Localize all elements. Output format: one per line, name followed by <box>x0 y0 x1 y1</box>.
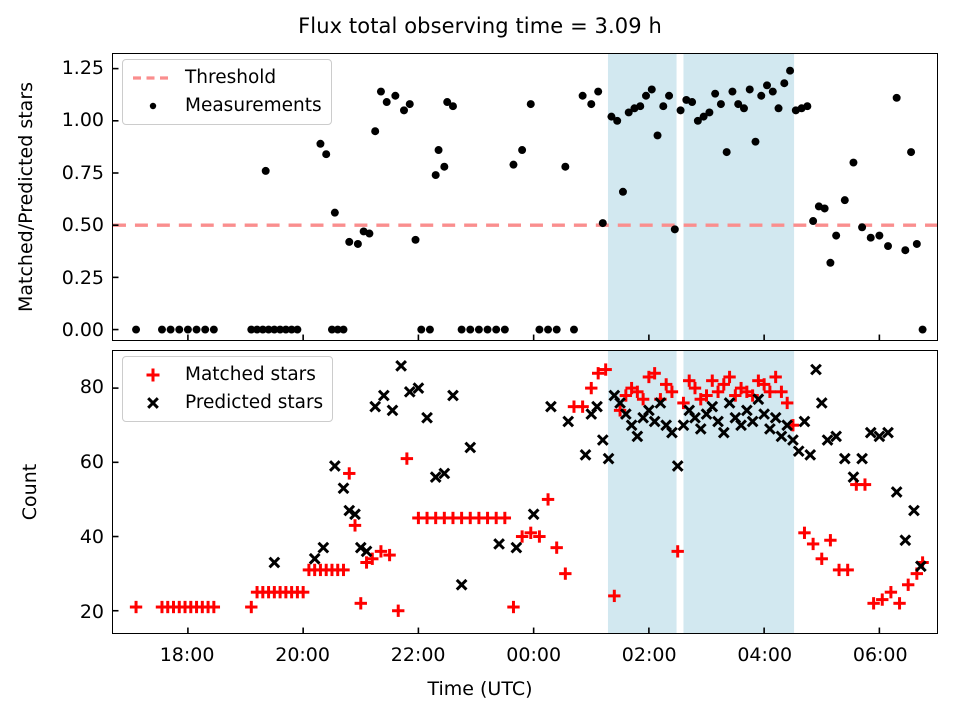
legend-label-predicted-stars: Predicted stars <box>185 392 323 413</box>
figure-canvas: Flux total observing time = 3.09 h 0.000… <box>0 0 960 720</box>
x-axis-label: Time (UTC) <box>0 678 960 700</box>
dot-marker-icon <box>132 96 174 116</box>
legend-item-predicted-stars: Predicted stars <box>132 390 323 415</box>
y-tick-label: 40 <box>80 526 104 548</box>
y-tick-label: 80 <box>80 376 104 398</box>
y-tick-label: 0.50 <box>62 214 104 236</box>
x-tick-label: 02:00 <box>622 644 677 666</box>
y-tick-label: 20 <box>80 601 104 623</box>
plus-marker-icon <box>132 365 174 385</box>
y-tick-label: 1.25 <box>62 57 104 79</box>
x-tick-label: 04:00 <box>737 644 792 666</box>
y-tick-label: 0.00 <box>62 319 104 341</box>
x-tick-label: 00:00 <box>506 644 561 666</box>
y-tick-label: 0.25 <box>62 267 104 289</box>
cross-marker-icon <box>132 393 174 413</box>
ratio-plot-legend: Threshold Measurements <box>122 59 332 125</box>
ratio-y-axis-label: Matched/Predicted stars <box>15 82 37 312</box>
figure-title: Flux total observing time = 3.09 h <box>0 14 960 38</box>
legend-item-threshold: Threshold <box>132 65 322 90</box>
count-y-axis-label: Count <box>19 464 41 520</box>
count-plot-legend: Matched stars Predicted stars <box>122 356 333 422</box>
y-tick-label: 60 <box>80 451 104 473</box>
y-tick-label: 0.75 <box>62 162 104 184</box>
dashed-line-icon <box>132 68 174 88</box>
y-tick-label: 1.00 <box>62 109 104 131</box>
legend-item-measurements: Measurements <box>132 93 322 118</box>
x-tick-label: 06:00 <box>853 644 908 666</box>
x-tick-label: 20:00 <box>275 644 330 666</box>
legend-item-matched-stars: Matched stars <box>132 362 323 387</box>
legend-label-measurements: Measurements <box>185 95 322 116</box>
x-tick-label: 22:00 <box>391 644 446 666</box>
legend-label-matched-stars: Matched stars <box>185 364 316 385</box>
x-tick-label: 18:00 <box>160 644 215 666</box>
legend-label-threshold: Threshold <box>185 67 276 88</box>
